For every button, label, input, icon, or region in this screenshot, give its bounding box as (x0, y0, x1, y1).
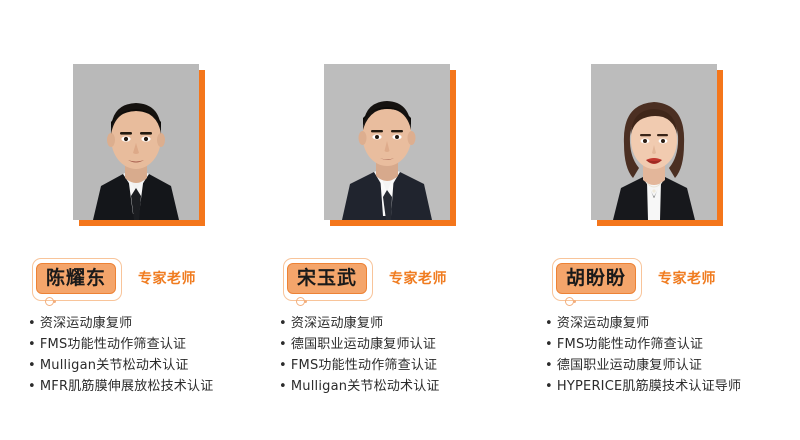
list-item: • Mulligan关节松动术认证 (279, 376, 517, 397)
bullet-icon: • (545, 355, 553, 376)
expert-photo-frame (73, 64, 199, 220)
bullet-icon: • (279, 334, 287, 355)
portrait-photo-male-1-icon (73, 64, 199, 220)
expert-name-line: 胡盼盼 专家老师 (556, 261, 716, 295)
list-item: • FMS功能性动作筛查认证 (279, 355, 517, 376)
credential-text: 德国职业运动康复师认证 (291, 334, 436, 355)
expert-name: 陈耀东 (46, 267, 106, 289)
badge-decor-dot-icon (304, 300, 307, 303)
list-item: • FMS功能性动作筛查认证 (545, 334, 783, 355)
credential-text: MFR肌筋膜伸展放松技术认证 (40, 376, 214, 397)
list-item: • 资深运动康复师 (279, 313, 517, 334)
credential-text: FMS功能性动作筛查认证 (557, 334, 703, 355)
portrait-photo-female-1-icon (591, 64, 717, 220)
expert-photo-frame (324, 64, 450, 220)
expert-role: 专家老师 (138, 268, 196, 288)
expert-cards-row: 陈耀东 专家老师 • 资深运动康复师 • FMS功能性动作筛查认证 • Mull… (0, 0, 800, 440)
bullet-icon: • (545, 376, 553, 397)
expert-role: 专家老师 (389, 268, 447, 288)
portrait-photo-male-2-icon (324, 64, 450, 220)
expert-card: 陈耀东 专家老师 • 资深运动康复师 • FMS功能性动作筛查认证 • Mull… (0, 0, 266, 440)
credential-text: Mulligan关节松动术认证 (40, 355, 189, 376)
expert-name-badge: 胡盼盼 (556, 263, 636, 294)
badge-fill: 胡盼盼 (556, 263, 636, 294)
list-item: • HYPERICE肌筋膜技术认证导师 (545, 376, 783, 397)
expert-name: 宋玉武 (297, 267, 357, 289)
expert-card: 胡盼盼 专家老师 • 资深运动康复师 • FMS功能性动作筛查认证 • 德国职业… (532, 0, 798, 440)
list-item: • FMS功能性动作筛查认证 (28, 334, 266, 355)
credential-text: HYPERICE肌筋膜技术认证导师 (557, 376, 741, 397)
bullet-icon: • (545, 334, 553, 355)
bullet-icon: • (28, 355, 36, 376)
expert-credentials-list: • 资深运动康复师 • FMS功能性动作筛查认证 • Mulligan关节松动术… (28, 313, 266, 397)
expert-name-badge: 陈耀东 (36, 263, 116, 294)
bullet-icon: • (279, 355, 287, 376)
expert-name-line: 宋玉武 专家老师 (287, 261, 447, 295)
list-item: • MFR肌筋膜伸展放松技术认证 (28, 376, 266, 397)
expert-credentials-list: • 资深运动康复师 • FMS功能性动作筛查认证 • 德国职业运动康复师认证 •… (545, 313, 783, 397)
bullet-icon: • (279, 376, 287, 397)
expert-credentials-list: • 资深运动康复师 • 德国职业运动康复师认证 • FMS功能性动作筛查认证 •… (279, 313, 517, 397)
credential-text: 德国职业运动康复师认证 (557, 355, 702, 376)
list-item: • 资深运动康复师 (28, 313, 266, 334)
expert-role: 专家老师 (658, 268, 716, 288)
list-item: • 德国职业运动康复师认证 (279, 334, 517, 355)
badge-decor-dot-icon (53, 300, 56, 303)
credential-text: Mulligan关节松动术认证 (291, 376, 440, 397)
credential-text: 资深运动康复师 (557, 313, 649, 334)
expert-name-line: 陈耀东 专家老师 (36, 261, 196, 295)
expert-team-panel: 陈耀东 专家老师 • 资深运动康复师 • FMS功能性动作筛查认证 • Mull… (0, 0, 800, 440)
expert-card: 宋玉武 专家老师 • 资深运动康复师 • 德国职业运动康复师认证 • FMS功能… (266, 0, 532, 440)
bullet-icon: • (545, 313, 553, 334)
bullet-icon: • (28, 334, 36, 355)
badge-decor-dot-icon (573, 300, 576, 303)
expert-name-badge: 宋玉武 (287, 263, 367, 294)
list-item: • 德国职业运动康复师认证 (545, 355, 783, 376)
credential-text: FMS功能性动作筛查认证 (291, 355, 437, 376)
list-item: • 资深运动康复师 (545, 313, 783, 334)
credential-text: 资深运动康复师 (40, 313, 132, 334)
credential-text: FMS功能性动作筛查认证 (40, 334, 186, 355)
bullet-icon: • (279, 313, 287, 334)
bullet-icon: • (28, 376, 36, 397)
expert-name: 胡盼盼 (566, 267, 626, 289)
credential-text: 资深运动康复师 (291, 313, 383, 334)
list-item: • Mulligan关节松动术认证 (28, 355, 266, 376)
badge-fill: 宋玉武 (287, 263, 367, 294)
expert-photo-frame (591, 64, 717, 220)
badge-fill: 陈耀东 (36, 263, 116, 294)
bullet-icon: • (28, 313, 36, 334)
